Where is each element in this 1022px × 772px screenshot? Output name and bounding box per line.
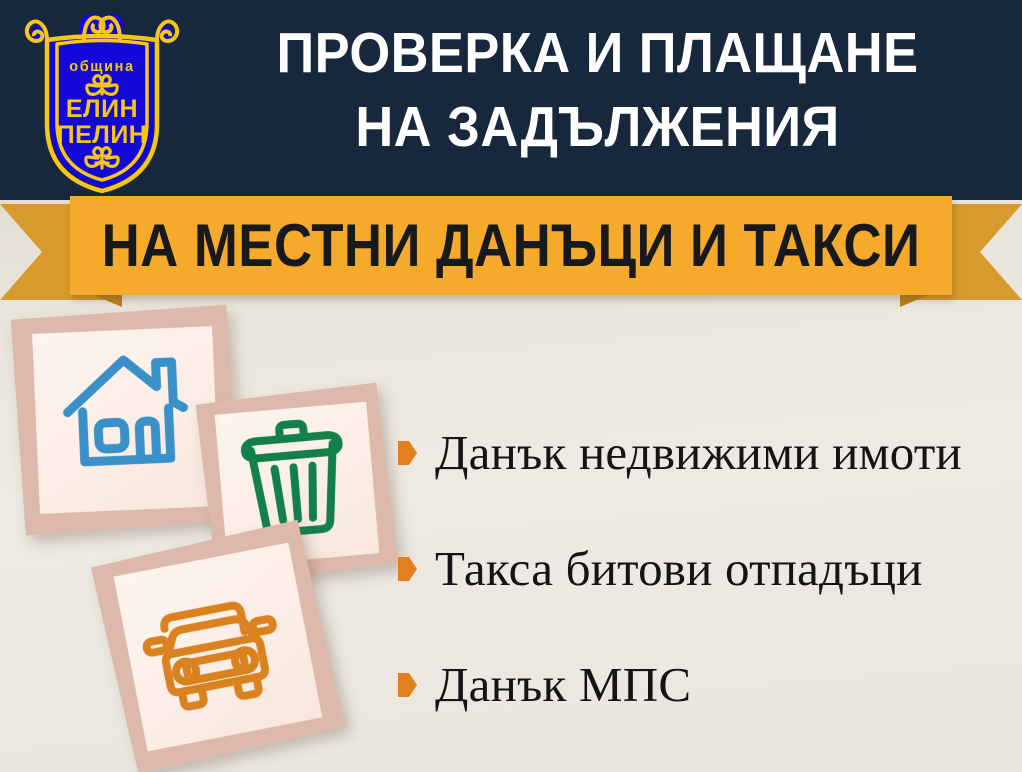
list-item[interactable]: Данък МПС [398,656,1018,714]
municipality-logo: община ЕЛИН ПЕЛИН [22,6,182,194]
tax-type-list: Данък недвижими имоти Такса битови отпад… [398,424,1018,772]
list-item-label: Такса битови отпадъци [435,540,923,598]
page-title: ПРОВЕРКА И ПЛАЩАНЕ НА ЗАДЪЛЖЕНИЯ [218,16,977,164]
bullet-arrow-icon [398,673,417,697]
poster-canvas: ПРОВЕРКА И ПЛАЩАНЕ НА ЗАДЪЛЖЕНИЯ община [0,0,1022,772]
bullet-arrow-icon [398,441,417,465]
list-item-label: Данък недвижими имоти [435,424,962,482]
logo-text-elin: ЕЛИН [66,95,138,123]
logo-text-pelin: ПЕЛИН [57,121,148,149]
list-item[interactable]: Данък недвижими имоти [398,424,1018,482]
ribbon-banner: НА МЕСТНИ ДАНЪЦИ И ТАКСИ [70,196,952,295]
bullet-arrow-icon [398,557,417,581]
list-item[interactable]: Такса битови отпадъци [398,540,1018,598]
list-item-label: Данък МПС [435,656,691,714]
ribbon-label: НА МЕСТНИ ДАНЪЦИ И ТАКСИ [123,196,899,295]
logo-text-obshtina: община [69,59,134,75]
